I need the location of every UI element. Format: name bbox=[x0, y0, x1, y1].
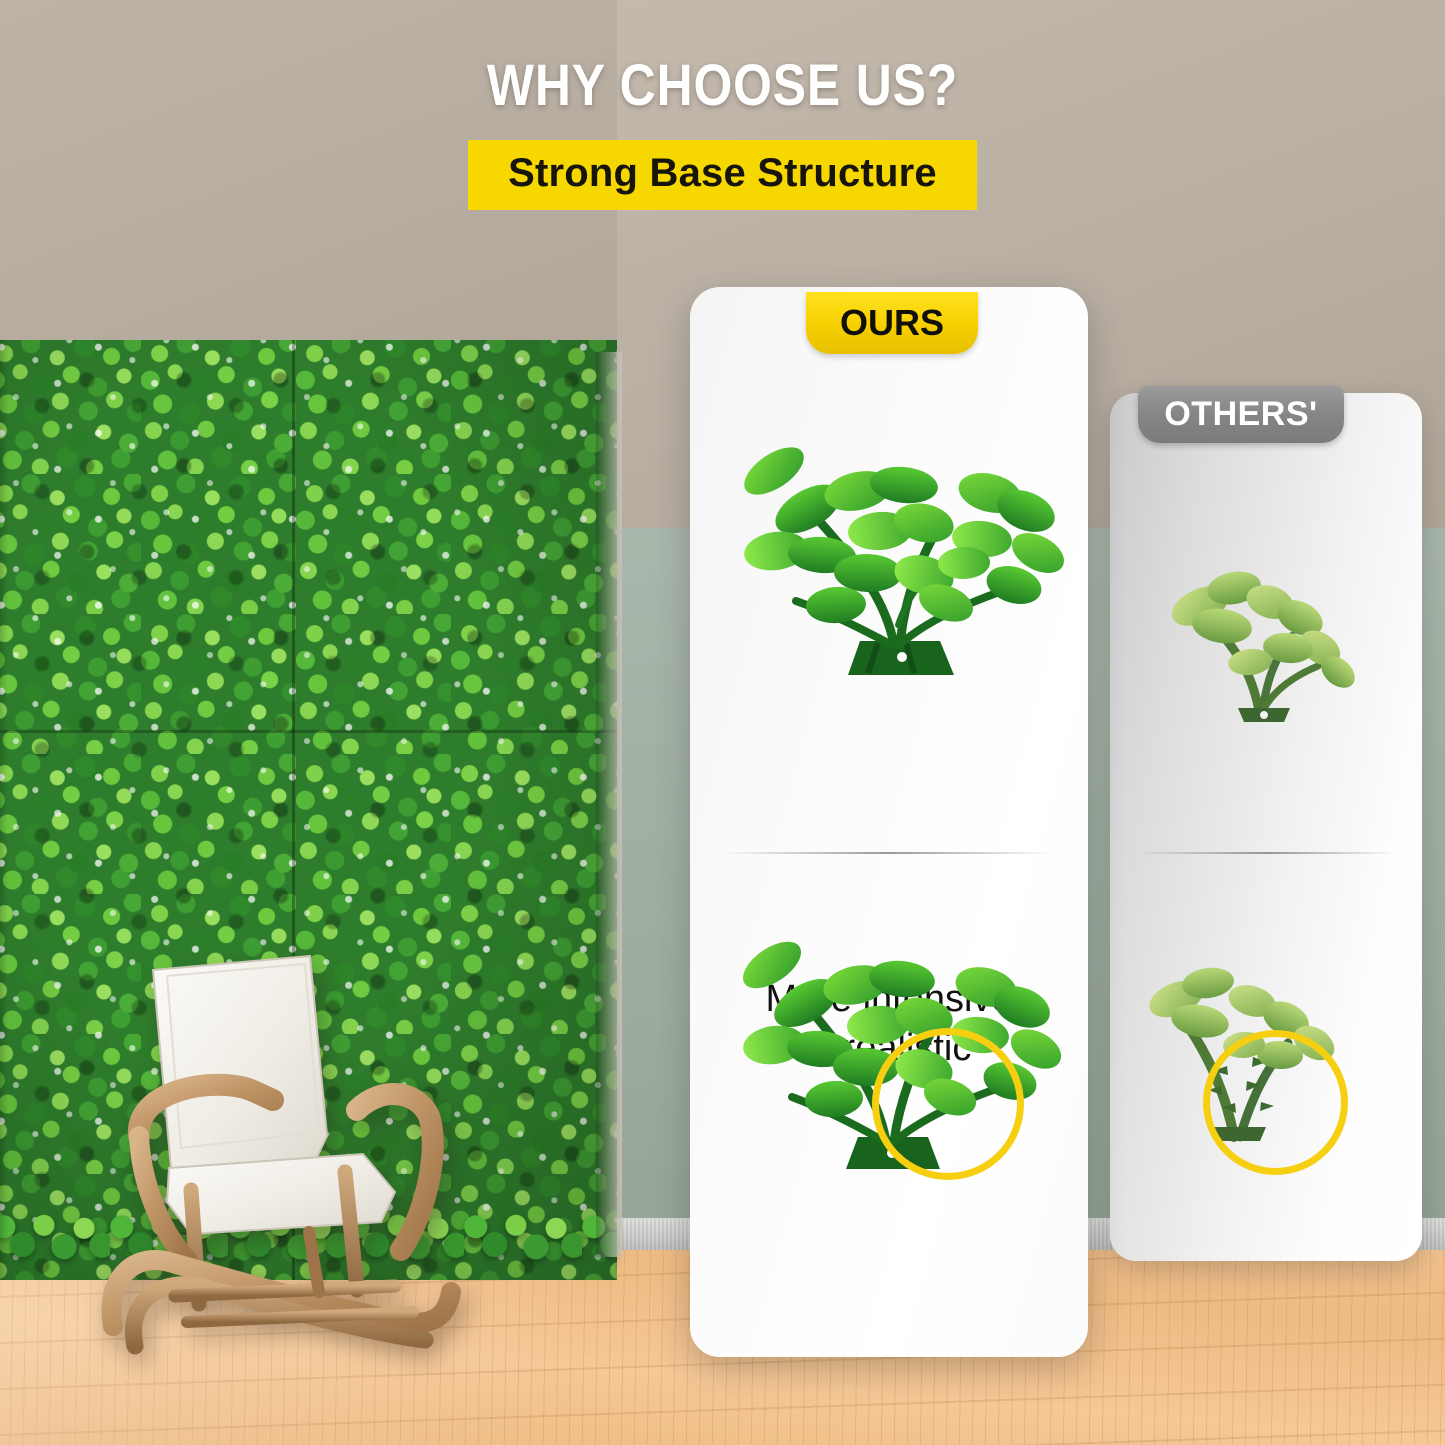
subtitle-banner-wrap: Strong Base Structure bbox=[0, 140, 1445, 210]
page-title: WHY CHOOSE US? bbox=[101, 52, 1344, 119]
product-comparison-image: WHY CHOOSE US? Strong Base Structure OTH… bbox=[0, 0, 1445, 1445]
others-card-divider bbox=[1135, 852, 1397, 854]
ours-card-divider bbox=[722, 852, 1056, 854]
others-magnifier-circle bbox=[1203, 1030, 1348, 1175]
ours-badge: OURS bbox=[806, 292, 978, 354]
subtitle-banner: Strong Base Structure bbox=[468, 140, 977, 210]
rocking-chair bbox=[95, 940, 485, 1370]
others-plant-top-image bbox=[1142, 540, 1377, 725]
hedge-right-edge bbox=[596, 352, 622, 1257]
hedge-left-shadow bbox=[0, 340, 8, 1280]
ours-magnifier-circle bbox=[872, 1028, 1024, 1180]
ours-plant-top-image bbox=[718, 435, 1086, 685]
others-badge: OTHERS' bbox=[1138, 386, 1344, 443]
